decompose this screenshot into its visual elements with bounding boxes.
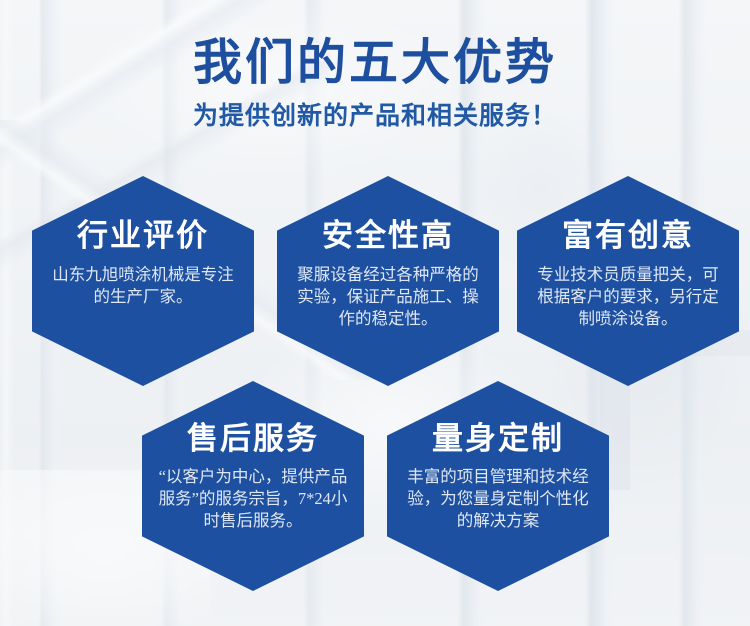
banner-heading-block: 我们的五大优势 为提供创新的产品和相关服务！ [0, 38, 750, 129]
advantage-title-4: 售后服务 [187, 423, 319, 454]
advantage-description-4: “以客户为中心，提供产品服务”的服务宗旨，7*24小时售后服务。 [155, 466, 351, 531]
advantage-hex-5[interactable]: 量身定制 丰富的项目管理和技术经验，为您量身定制个性化的解决方案 [387, 381, 609, 591]
advantage-title-1: 行业评价 [77, 220, 209, 251]
advantage-description-3: 专业技术员质量把关，可根据客户的要求，另行定制喷涂设备。 [535, 264, 721, 329]
advantage-hex-2[interactable]: 安全性高 聚脲设备经过各种严格的实验，保证产品施工、操作的稳定性。 [277, 176, 499, 386]
advantage-description-1: 山东九旭喷涂机械是专注的生产厂家。 [50, 264, 236, 308]
advantage-description-2: 聚脲设备经过各种严格的实验，保证产品施工、操作的稳定性。 [295, 264, 481, 329]
advantage-title-2: 安全性高 [322, 220, 454, 251]
advantage-hex-3[interactable]: 富有创意 专业技术员质量把关，可根据客户的要求，另行定制喷涂设备。 [517, 176, 739, 386]
advantage-hex-4[interactable]: 售后服务 “以客户为中心，提供产品服务”的服务宗旨，7*24小时售后服务。 [142, 381, 364, 591]
advantage-title-5: 量身定制 [432, 423, 564, 454]
page-title: 我们的五大优势 [0, 38, 750, 87]
advantage-hex-1[interactable]: 行业评价 山东九旭喷涂机械是专注的生产厂家。 [32, 176, 254, 386]
advantages-banner: 我们的五大优势 为提供创新的产品和相关服务！ 行业评价 山东九旭喷涂机械是专注的… [0, 0, 750, 626]
page-subtitle: 为提供创新的产品和相关服务！ [0, 104, 750, 129]
advantage-description-5: 丰富的项目管理和技术经验，为您量身定制个性化的解决方案 [400, 466, 596, 531]
advantage-title-3: 富有创意 [562, 220, 694, 251]
